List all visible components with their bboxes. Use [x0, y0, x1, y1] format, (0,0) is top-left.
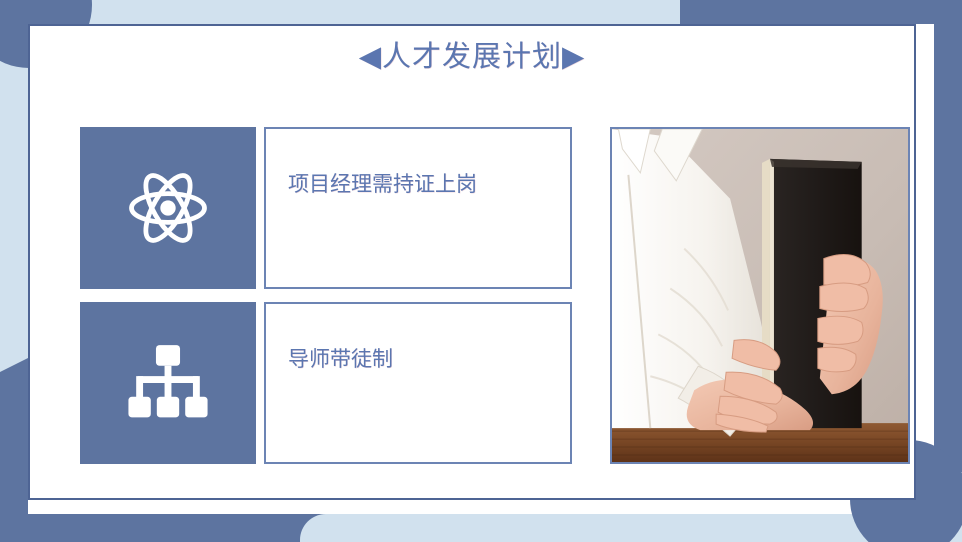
atom-icon-box[interactable]: [80, 127, 256, 289]
content-area: 项目经理需持证上岗: [80, 127, 874, 464]
slide-canvas: ◀人才发展计划▶: [0, 0, 962, 542]
decor-bottom-dark-band: [0, 514, 330, 542]
list-item-label: 导师带徒制: [266, 304, 393, 373]
person-holding-black-book-photo: [610, 127, 910, 464]
slide-title: ◀人才发展计划▶: [30, 40, 914, 75]
decor-top-dark-band: [680, 0, 962, 24]
list-item-label: 项目经理需持证上岗: [266, 129, 477, 198]
atom-icon: [120, 160, 216, 256]
content-frame: ◀人才发展计划▶: [28, 24, 916, 500]
org-chart-icon: [125, 340, 211, 426]
caption-box[interactable]: 项目经理需持证上岗: [264, 127, 572, 289]
decor-top-light-band: [0, 0, 720, 24]
list-item[interactable]: 导师带徒制: [80, 302, 572, 464]
caption-box[interactable]: 导师带徒制: [264, 302, 572, 464]
bullet-rows: 项目经理需持证上岗: [80, 127, 572, 464]
list-item[interactable]: 项目经理需持证上岗: [80, 127, 572, 289]
org-chart-icon-box[interactable]: [80, 302, 256, 464]
